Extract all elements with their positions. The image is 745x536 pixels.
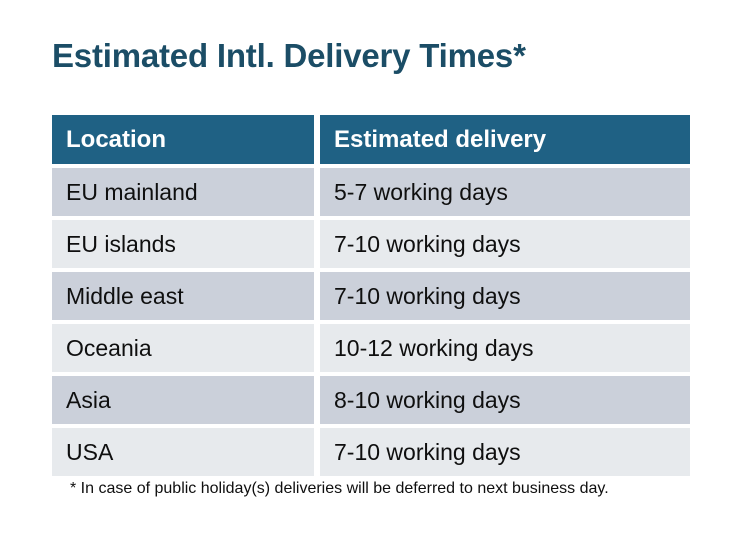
table-row: Oceania 10-12 working days [52, 324, 690, 372]
cell-estimated-delivery: 10-12 working days [320, 324, 690, 372]
table-row: USA 7-10 working days [52, 428, 690, 476]
cell-location: Oceania [52, 324, 314, 372]
table-row: Asia 8-10 working days [52, 376, 690, 424]
cell-estimated-delivery: 8-10 working days [320, 376, 690, 424]
cell-location: Middle east [52, 272, 314, 320]
cell-location: USA [52, 428, 314, 476]
cell-estimated-delivery: 7-10 working days [320, 428, 690, 476]
page-title: Estimated Intl. Delivery Times* [52, 36, 526, 76]
delivery-times-table: Location Estimated delivery EU mainland … [52, 115, 690, 480]
table-row: EU islands 7-10 working days [52, 220, 690, 268]
cell-location: EU mainland [52, 168, 314, 216]
cell-estimated-delivery: 5-7 working days [320, 168, 690, 216]
cell-location: Asia [52, 376, 314, 424]
cell-estimated-delivery: 7-10 working days [320, 220, 690, 268]
column-header-location: Location [52, 115, 314, 164]
footnote-text: * In case of public holiday(s) deliverie… [70, 478, 609, 500]
table-row: EU mainland 5-7 working days [52, 168, 690, 216]
table-header-row: Location Estimated delivery [52, 115, 690, 164]
column-header-estimated-delivery: Estimated delivery [320, 115, 690, 164]
delivery-times-page: Estimated Intl. Delivery Times* Location… [0, 0, 745, 536]
cell-estimated-delivery: 7-10 working days [320, 272, 690, 320]
cell-location: EU islands [52, 220, 314, 268]
table-row: Middle east 7-10 working days [52, 272, 690, 320]
